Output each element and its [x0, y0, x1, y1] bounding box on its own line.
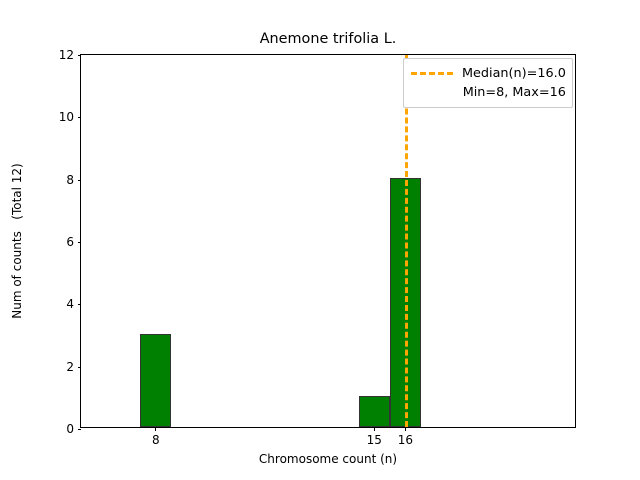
y-tick-label: 4 — [66, 298, 74, 310]
y-axis-label: Num of counts (Total 12) — [10, 163, 24, 319]
y-tick-mark — [78, 242, 82, 243]
legend-entry: Median(n)=16.0 — [411, 64, 566, 83]
x-tick-mark — [374, 427, 375, 431]
y-tick-mark — [78, 429, 82, 430]
legend-label: Median(n)=16.0 — [462, 66, 566, 81]
y-axis-label-container: Num of counts (Total 12) — [0, 54, 34, 428]
chart-figure: Anemone trifolia L. Num of counts (Total… — [0, 0, 640, 480]
plot-area: 02468101281516 — [80, 54, 576, 428]
y-tick-mark — [78, 55, 82, 56]
x-tick-label: 8 — [152, 433, 160, 447]
x-tick-label: 16 — [398, 433, 413, 447]
legend-entry: Min=8, Max=16 — [411, 83, 566, 102]
y-tick-mark — [78, 367, 82, 368]
chart-title: Anemone trifolia L. — [80, 31, 576, 48]
median-line — [405, 55, 408, 427]
y-tick-mark — [78, 117, 82, 118]
x-axis-label: Chromosome count (n) — [80, 452, 576, 466]
x-tick-mark — [405, 427, 406, 431]
histogram-bar — [140, 334, 171, 428]
y-tick-label: 0 — [66, 423, 74, 435]
y-tick-label: 12 — [59, 49, 74, 61]
x-tick-label: 15 — [367, 433, 382, 447]
x-tick-mark — [155, 427, 156, 431]
legend-label: Min=8, Max=16 — [462, 85, 566, 100]
y-tick-label: 10 — [59, 111, 74, 123]
legend-line-sample — [411, 72, 453, 75]
y-tick-label: 8 — [66, 174, 74, 186]
y-tick-label: 6 — [66, 236, 74, 248]
y-tick-label: 2 — [66, 361, 74, 373]
y-tick-mark — [78, 180, 82, 181]
histogram-bar — [359, 396, 390, 427]
chart-legend: Median(n)=16.0Min=8, Max=16 — [403, 58, 573, 108]
y-tick-mark — [78, 304, 82, 305]
